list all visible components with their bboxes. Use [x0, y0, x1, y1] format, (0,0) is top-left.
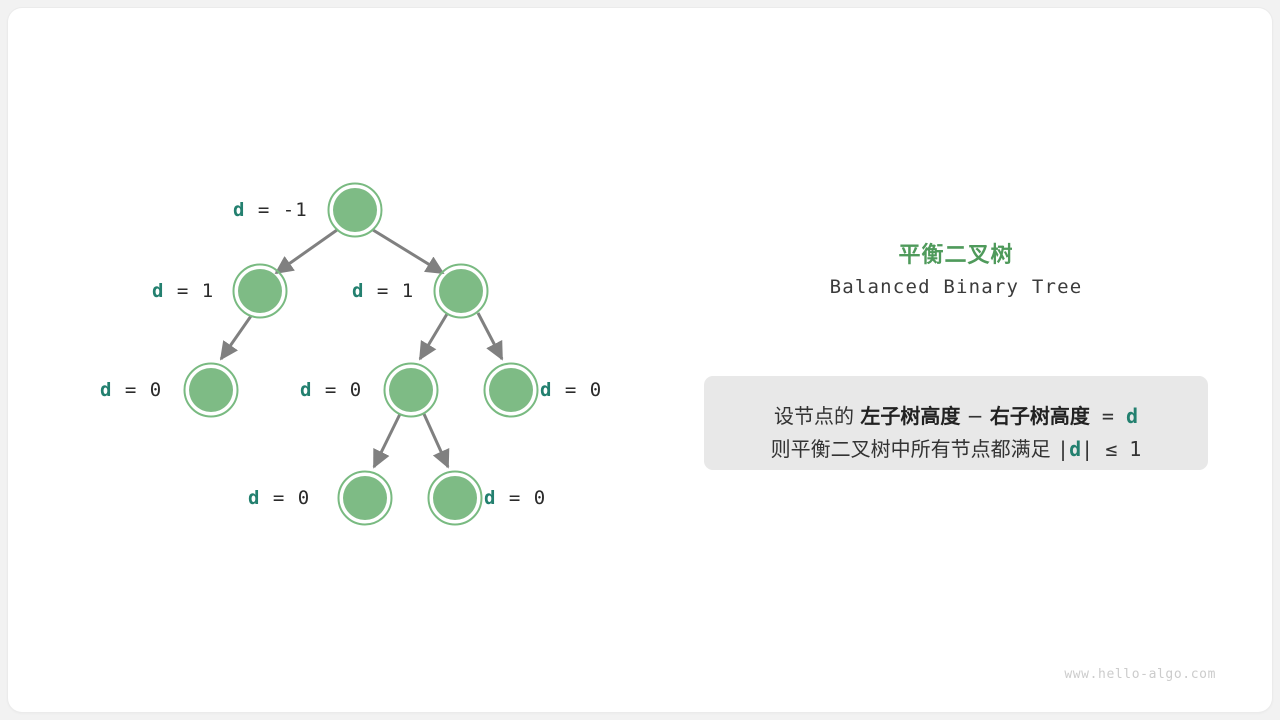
label-right-right-var: d — [540, 379, 552, 401]
watermark: www.hello-algo.com — [1064, 667, 1216, 682]
definition-line-1: 设节点的 左子树高度 − 右子树高度 = d — [704, 400, 1208, 429]
edge-rightleft-to-deepleft — [374, 414, 400, 467]
definition-line-2: 则平衡二叉树中所有节点都满足 |d| ≤ 1 — [704, 433, 1208, 462]
definition-var-d: d — [1126, 404, 1138, 428]
label-deep-left-var: d — [248, 487, 260, 509]
definition-prefix: 设节点的 — [774, 404, 860, 428]
label-right-var: d — [352, 280, 364, 302]
label-root-var: d — [233, 199, 245, 221]
label-deep-right-balance: d = 0 — [484, 487, 546, 509]
label-left-rest: = 1 — [164, 280, 214, 302]
tree-node-deep-right[interactable] — [429, 472, 482, 525]
label-left-var: d — [152, 280, 164, 302]
label-left-left-rest: = 0 — [112, 379, 162, 401]
label-root-rest: = -1 — [245, 199, 307, 221]
label-right-right-rest: = 0 — [552, 379, 602, 401]
label-root-balance: d = -1 — [233, 199, 308, 221]
label-right-balance: d = 1 — [352, 280, 414, 302]
tree-nodes — [185, 184, 538, 525]
label-right-right-balance: d = 0 — [540, 379, 602, 401]
edge-right-to-rightright — [478, 313, 502, 359]
tree-node-left-left[interactable] — [185, 364, 238, 417]
label-right-left-var: d — [300, 379, 312, 401]
tree-node-deep-left[interactable] — [339, 472, 392, 525]
condition-prefix: 则平衡二叉树中所有节点都满足 — [771, 437, 1057, 461]
minus-sign: − — [960, 404, 989, 428]
condition-var-d: d — [1069, 437, 1081, 461]
tree-node-right[interactable] — [435, 265, 488, 318]
label-right-left-balance: d = 0 — [300, 379, 362, 401]
page-title: 平衡二叉树 — [704, 237, 1208, 269]
label-deep-left-rest: = 0 — [260, 487, 310, 509]
tree-node-right-left[interactable] — [385, 364, 438, 417]
definition-box: 设节点的 左子树高度 − 右子树高度 = d 则平衡二叉树中所有节点都满足 |d… — [704, 376, 1208, 470]
label-left-balance: d = 1 — [152, 280, 214, 302]
equals-sign: = — [1090, 404, 1126, 428]
label-left-left-balance: d = 0 — [100, 379, 162, 401]
label-deep-left-balance: d = 0 — [248, 487, 310, 509]
tree-node-left[interactable] — [234, 265, 287, 318]
binary-tree-diagram — [8, 8, 1272, 712]
tree-node-root[interactable] — [329, 184, 382, 237]
edge-root-to-right — [373, 230, 443, 273]
label-right-rest: = 1 — [364, 280, 414, 302]
label-deep-right-var: d — [484, 487, 496, 509]
condition-operator: ≤ 1 — [1093, 437, 1141, 461]
edge-rightleft-to-deepright — [424, 414, 448, 467]
illustration-card: d = -1 d = 1 d = 1 d = 0 d = 0 d = 0 d =… — [8, 8, 1272, 712]
label-deep-right-rest: = 0 — [496, 487, 546, 509]
edge-left-to-leftleft — [221, 316, 251, 359]
definition-left-subtree-height: 左子树高度 — [860, 404, 960, 428]
tree-node-right-right[interactable] — [485, 364, 538, 417]
definition-right-subtree-height: 右子树高度 — [990, 404, 1090, 428]
abs-bar-open: | — [1057, 437, 1069, 461]
label-right-left-rest: = 0 — [312, 379, 362, 401]
abs-bar-close: | — [1081, 437, 1093, 461]
label-left-left-var: d — [100, 379, 112, 401]
edge-root-to-left — [276, 230, 337, 273]
edge-right-to-rightleft — [420, 314, 447, 359]
page-subtitle: Balanced Binary Tree — [704, 276, 1208, 298]
